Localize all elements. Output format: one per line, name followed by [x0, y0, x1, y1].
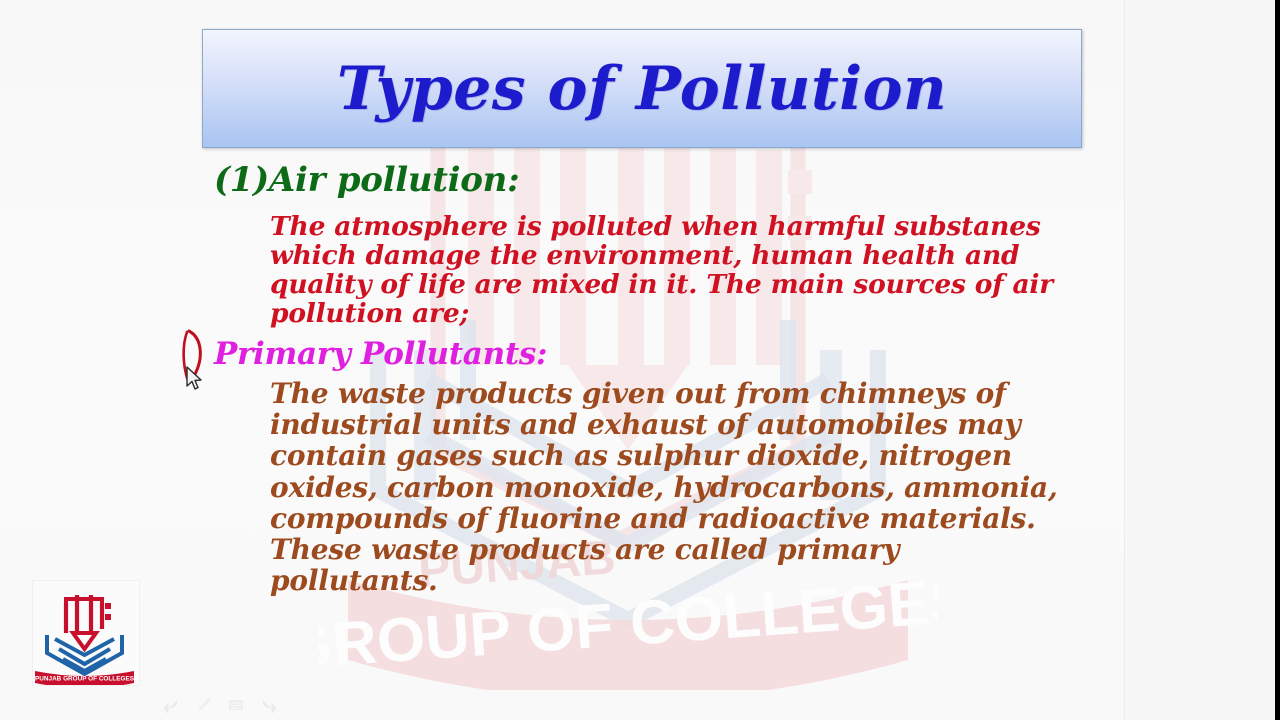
panel-divider: [1124, 0, 1125, 720]
section-body-air-pollution: The atmosphere is polluted when harmful …: [270, 212, 1070, 328]
title-box: Types of Pollution: [202, 29, 1082, 148]
section-heading-primary-pollutants: Primary Pollutants:: [214, 336, 547, 372]
slide-toolbar[interactable]: [163, 694, 283, 716]
section-heading-air-pollution: (1)Air pollution:: [214, 160, 519, 200]
notes-icon[interactable]: [227, 696, 245, 714]
section-body-primary-pollutants: The waste products given out from chimne…: [270, 378, 1060, 596]
slide-root: GROUP OF COLLEGES PUNJAB Types of Pollut…: [0, 0, 1280, 720]
right-edge-strip: [1275, 0, 1280, 720]
redo-arrow-icon[interactable]: [259, 696, 277, 714]
logo-banner-text: PUNJAB GROUP OF COLLEGES: [35, 676, 135, 683]
undo-arrow-icon[interactable]: [163, 696, 181, 714]
pen-icon[interactable]: [195, 696, 213, 714]
pgc-logo: PUNJAB GROUP OF COLLEGES: [33, 581, 139, 685]
page-title: Types of Pollution: [203, 30, 1081, 147]
